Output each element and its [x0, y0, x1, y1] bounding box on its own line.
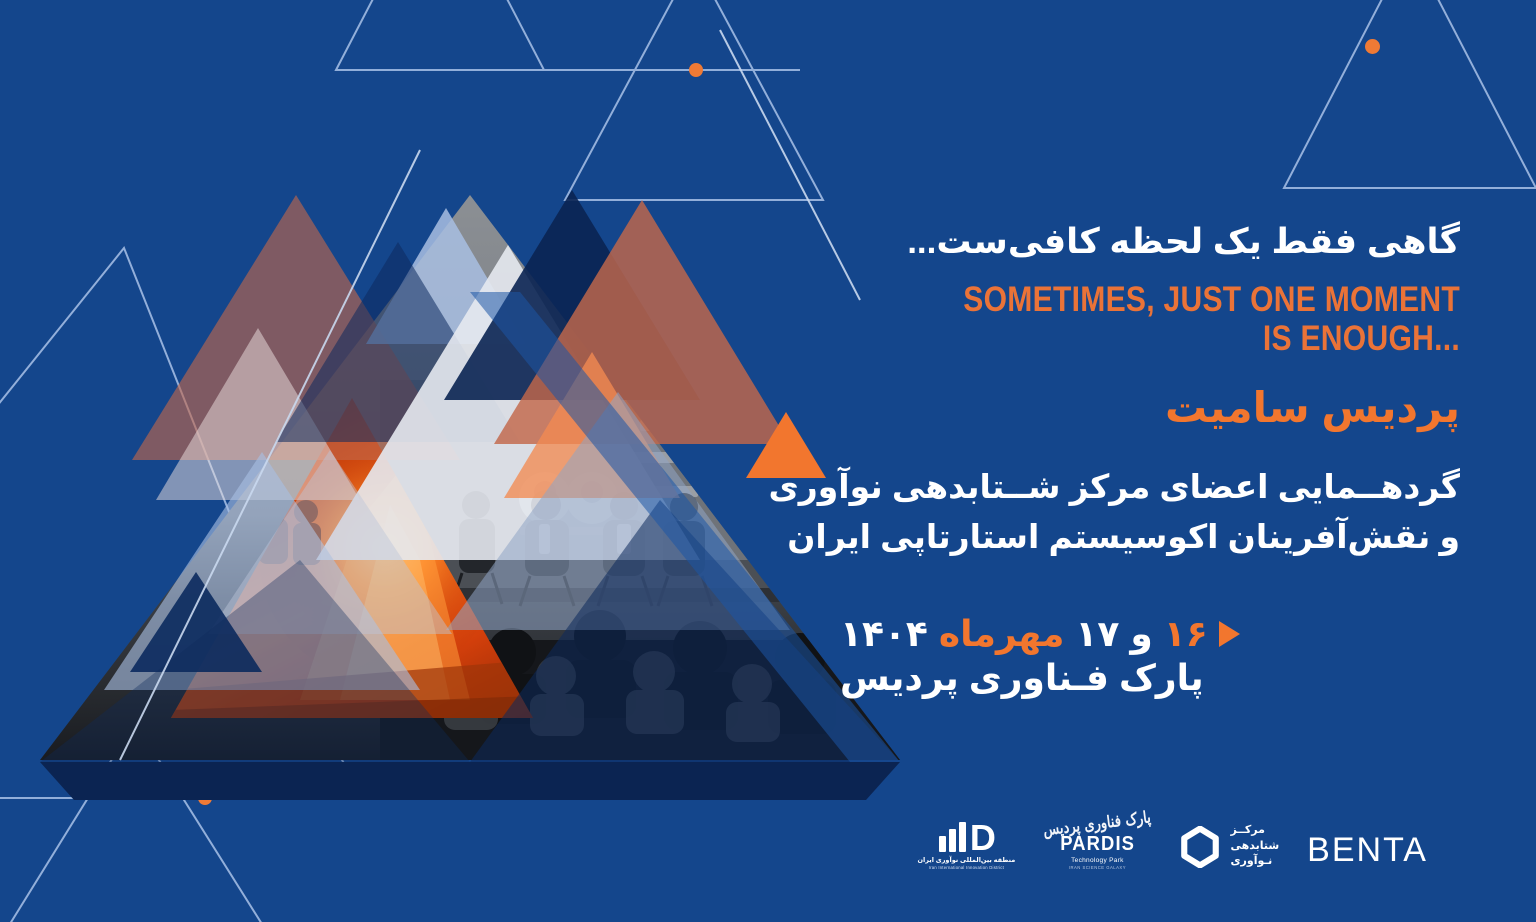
pardis-tagline: Technology Park [1071, 857, 1124, 864]
iiid-wordmark: D [970, 824, 994, 852]
date-conjunction: و [1130, 614, 1152, 654]
date-day-first: ۱۶ [1164, 614, 1208, 654]
date-month: مهرماه [939, 614, 1065, 654]
kicker-persian: گاهی فقط یک لحظه کافی‌ست... [840, 222, 1460, 262]
logo-strip: D منطقه بین‌المللی نوآوری ایران Iran Int… [917, 817, 1428, 871]
markaz-mark: مرکــز شتابدهی نـوآوری [1179, 823, 1279, 870]
logo-innovation-accelerator: مرکــز شتابدهی نـوآوری [1179, 823, 1279, 870]
text-column: گاهی فقط یک لحظه کافی‌ست... SOMETIMES, J… [840, 0, 1460, 922]
date-day-second: ۱۷ [1075, 614, 1119, 654]
iiid-bar-2 [949, 829, 956, 852]
event-venue: پارک فـناوری پردیس [840, 656, 1204, 699]
markaz-line-1: مرکــز [1230, 823, 1264, 839]
benta-wordmark: BENTA [1307, 831, 1428, 870]
triangle-bullet-icon [1219, 621, 1240, 647]
date-year: ۱۴۰۴ [840, 614, 928, 654]
markaz-line-3: نـوآوری [1230, 854, 1272, 870]
iiid-bar-1 [939, 836, 946, 852]
pardis-wordmark: PARDIS [1060, 833, 1135, 856]
markaz-words: مرکــز شتابدهی نـوآوری [1230, 823, 1279, 870]
iiid-bar-3 [959, 822, 966, 852]
iiid-caption-fa: منطقه بین‌المللی نوآوری ایران [917, 856, 1015, 864]
iiid-mark: D [939, 822, 994, 852]
logo-benta: BENTA [1307, 831, 1428, 870]
triangle-collage [0, 0, 940, 922]
subtitle-line-2: و نقش‌آفرینان اکوسیستم استارتاپی ایران [840, 512, 1460, 562]
subtitle-line-1: گردهــمایی اعضای مرکز شــتابدهی نوآوری [840, 462, 1460, 512]
logo-iiid: D منطقه بین‌المللی نوآوری ایران Iran Int… [917, 822, 1015, 870]
markaz-line-2: شتابدهی [1230, 839, 1279, 855]
hexagon-ring-icon [1179, 826, 1221, 868]
iiid-caption: منطقه بین‌المللی نوآوری ایران Iran Inter… [917, 856, 1015, 870]
pardis-tiny-text: IRAN SCIENCE GALAXY [1069, 865, 1126, 870]
kicker-english: SOMETIMES, JUST ONE MOMENT IS ENOUGH... [927, 281, 1460, 358]
iiid-caption-en: Iran International Innovation District [917, 865, 1015, 870]
event-date: ۱۶ و ۱۷ مهرماه ۱۴۰۴ [840, 614, 1240, 654]
collage-diagonal-line-2 [720, 30, 860, 300]
poster-canvas: گاهی فقط یک لحظه کافی‌ست... SOMETIMES, J… [0, 0, 1536, 922]
date-venue-block: ۱۶ و ۱۷ مهرماه ۱۴۰۴ پارک فـناوری پردیس [840, 614, 1460, 700]
event-subtitle: گردهــمایی اعضای مرکز شــتابدهی نوآوری و… [840, 462, 1460, 562]
event-title: پردیس سامیت [840, 385, 1460, 431]
logo-pardis: پارک فناوری پردیس PARDIS Technology Park… [1043, 817, 1151, 871]
